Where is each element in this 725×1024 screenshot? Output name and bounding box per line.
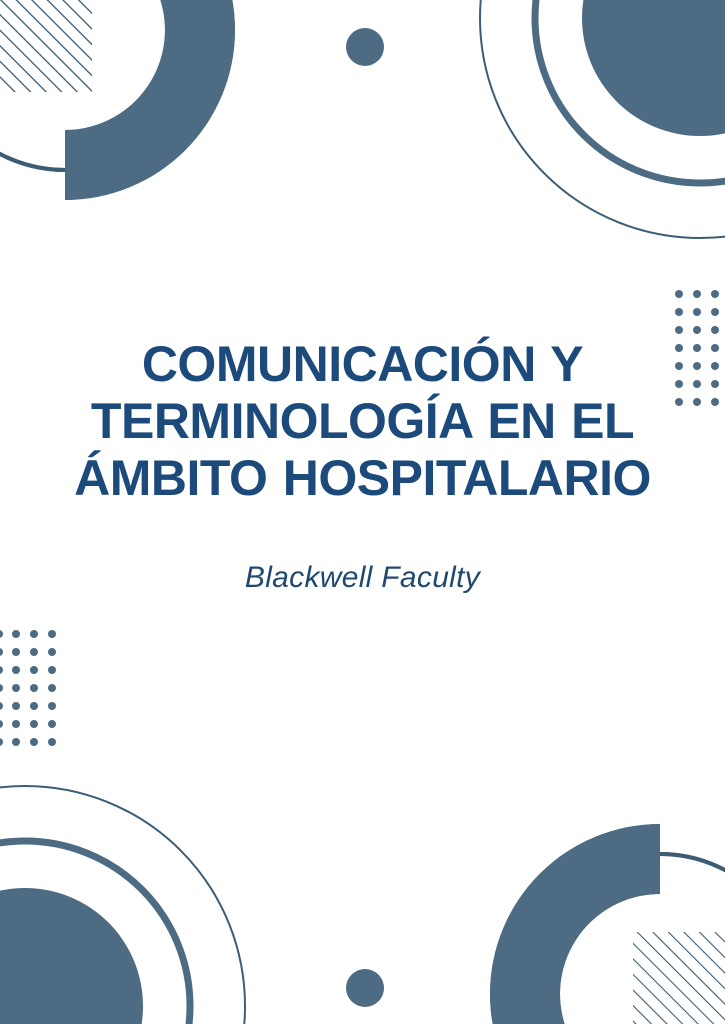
solid-circle-dot-bottom [346, 969, 384, 1007]
bottom-left-decoration-group [0, 786, 245, 1024]
solid-circle-dot-top [346, 28, 384, 66]
thick-donut-body-top-left [65, 0, 235, 200]
outer-thin-ring-top-right [480, 0, 725, 238]
thick-donut-arc-top-left [65, 0, 235, 200]
donut-hole-top-left [0, 0, 164, 129]
diagonal-striped-square-top-left [0, 0, 164, 129]
donut-hole-bottom-right [561, 895, 725, 1024]
striped-square-tl-fill [0, 0, 92, 92]
top-right-decoration-group [480, 0, 725, 238]
top-left-decoration-group [0, 0, 235, 200]
filled-circle-bottom-left [0, 888, 143, 1024]
author-name: Blackwell Faculty [0, 507, 725, 595]
outer-thin-ring-bottom-left [0, 786, 245, 1024]
filled-circle-top-right [582, 0, 725, 136]
thin-ring-visible-top-left [0, 30, 65, 170]
thick-donut-arc-bottom-right [490, 824, 660, 1024]
cover-page: COMUNICACIÓN Y TERMINOLOGÍA EN EL ÁMBITO… [0, 0, 725, 1024]
bottom-right-decoration-group [490, 824, 725, 1024]
thin-ring-arc-top-left [0, 0, 205, 170]
title-block: COMUNICACIÓN Y TERMINOLOGÍA EN EL ÁMBITO… [0, 336, 725, 595]
striped-square-br-fill [633, 932, 725, 1024]
dot-grid-left [0, 630, 56, 746]
thick-donut-body-bottom-right [490, 824, 660, 1024]
thin-ring-visible-bottom-right [660, 854, 725, 994]
inner-thick-ring-bottom-left [0, 841, 190, 1024]
inner-thick-ring-top-right [535, 0, 725, 183]
page-title: COMUNICACIÓN Y TERMINOLOGÍA EN EL ÁMBITO… [0, 336, 725, 507]
thin-ring-arc-bottom-right [520, 854, 725, 1024]
